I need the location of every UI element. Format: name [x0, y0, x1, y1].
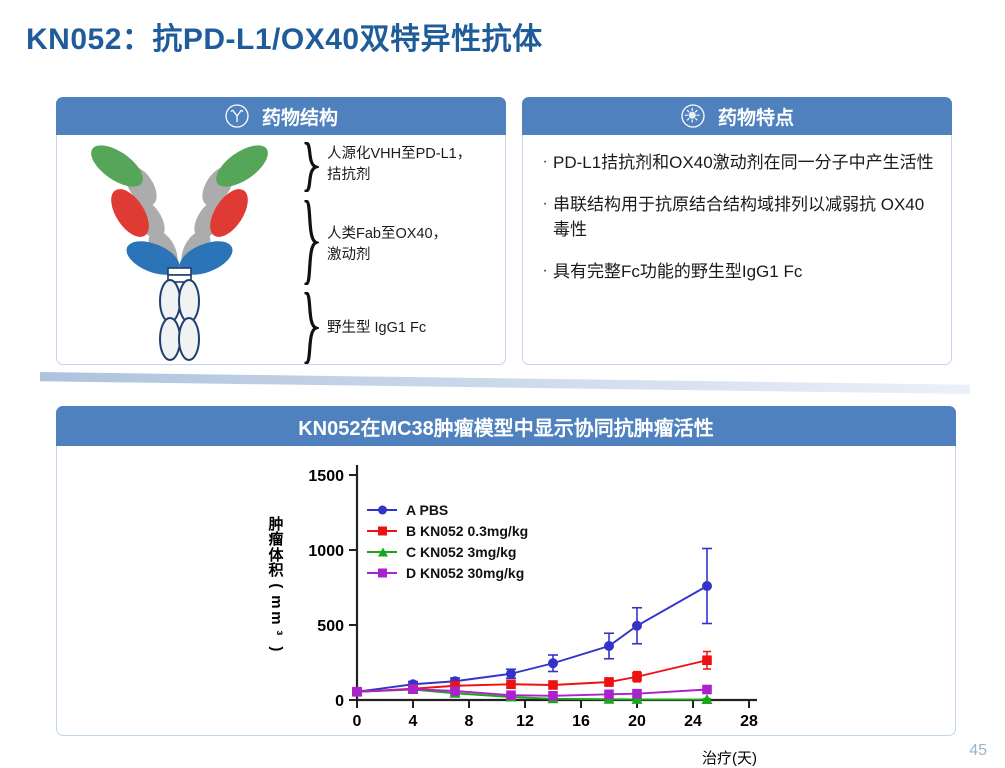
data-point: [702, 655, 712, 665]
data-point: [506, 690, 516, 700]
annotation-fc: 野生型 IgG1 Fc: [327, 318, 507, 339]
feature-text: 串联结构用于抗原结合结构域排列以减弱抗 OX40毒性: [553, 192, 941, 243]
data-point: [506, 679, 516, 689]
data-point: [632, 621, 642, 631]
data-point: [548, 680, 558, 690]
bullet-icon: ·: [537, 259, 553, 285]
bullet-icon: ·: [537, 150, 553, 176]
y-tick-label: 0: [335, 693, 344, 710]
data-point: [604, 677, 614, 687]
drug-structure-header: 药物结构: [56, 97, 506, 135]
brace-fab: [303, 200, 319, 285]
data-point: [352, 687, 362, 697]
drug-features-header: 药物特点: [522, 97, 952, 135]
antibody-diagram: [67, 140, 292, 365]
fab-domains: [104, 183, 256, 244]
data-point: [450, 686, 460, 696]
drug-features-header-label: 药物特点: [718, 103, 794, 130]
y-tick-label: 1000: [308, 543, 344, 560]
data-point: [632, 689, 642, 699]
data-point: [702, 581, 712, 591]
page-number: 45: [969, 742, 987, 760]
x-tick-label: 24: [684, 713, 702, 730]
feature-text: PD-L1拮抗剂和OX40激动剂在同一分子中产生活性: [553, 150, 934, 176]
data-point: [604, 690, 614, 700]
page-title: KN052：抗PD-L1/OX40双特异性抗体: [26, 14, 543, 58]
drug-structure-card: 药物结构: [56, 97, 506, 365]
brace-fc: [303, 292, 319, 364]
x-tick-label: 8: [465, 713, 474, 730]
annotation-fab: 人类Fab至OX40， 激动剂: [327, 224, 507, 266]
vhh-domains: [84, 140, 274, 195]
antibody-icon: [224, 103, 250, 129]
x-tick-label: 0: [353, 713, 362, 730]
x-tick-label: 4: [409, 713, 418, 730]
drug-features-body: · PD-L1拮抗剂和OX40激动剂在同一分子中产生活性 · 串联结构用于抗原结…: [523, 136, 953, 365]
y-tick-label: 500: [317, 618, 344, 635]
data-point: [506, 669, 516, 679]
fc-domains: [160, 280, 199, 360]
efficacy-chart-header: KN052在MC38肿瘤模型中显示协同抗肿瘤活性: [56, 406, 956, 446]
data-point: [548, 658, 558, 668]
series-circle: [352, 549, 712, 697]
x-tick-label: 20: [628, 713, 646, 730]
feature-item: · 串联结构用于抗原结合结构域排列以减弱抗 OX40毒性: [537, 192, 941, 243]
tumor-volume-plot: 0500100015000481216202428: [57, 447, 957, 736]
efficacy-chart-card: KN052在MC38肿瘤模型中显示协同抗肿瘤活性 肿瘤体积(mm³) 治疗(天)…: [56, 406, 956, 736]
data-point: [548, 691, 558, 701]
efficacy-chart-header-label: KN052在MC38肿瘤模型中显示协同抗肿瘤活性: [298, 412, 714, 441]
x-axis-title: 治疗(天): [702, 747, 757, 768]
data-point: [702, 685, 712, 695]
feature-text: 具有完整Fc功能的野生型IgG1 Fc: [553, 259, 802, 285]
sunburst-icon: [680, 103, 706, 129]
bullet-icon: ·: [537, 192, 553, 243]
efficacy-chart-body: 肿瘤体积(mm³) 治疗(天) A PBSB KN052 0.3mg/kgC K…: [57, 447, 957, 736]
y-tick-label: 1500: [308, 468, 344, 485]
drug-structure-header-label: 药物结构: [262, 103, 338, 130]
slide: KN052：抗PD-L1/OX40双特异性抗体 药物结构: [0, 0, 1005, 766]
x-tick-label: 12: [516, 713, 534, 730]
feature-item: · PD-L1拮抗剂和OX40激动剂在同一分子中产生活性: [537, 150, 941, 176]
drug-features-card: 药物特点 · PD-L1拮抗剂和OX40激动剂在同一分子中产生活性 · 串联结构…: [522, 97, 952, 365]
x-tick-label: 16: [572, 713, 590, 730]
series-line: [357, 586, 707, 692]
data-point: [604, 641, 614, 651]
data-point: [632, 672, 642, 682]
feature-item: · 具有完整Fc功能的野生型IgG1 Fc: [537, 259, 941, 285]
annotation-vhh: 人源化VHH至PD-L1， 拮抗剂: [327, 144, 507, 186]
drug-structure-body: 人源化VHH至PD-L1， 拮抗剂 人类Fab至OX40， 激动剂 野生型 Ig…: [57, 136, 507, 365]
data-point: [408, 684, 418, 694]
x-tick-label: 28: [740, 713, 758, 730]
decorative-band: [40, 372, 970, 394]
brace-vhh: [303, 142, 319, 192]
